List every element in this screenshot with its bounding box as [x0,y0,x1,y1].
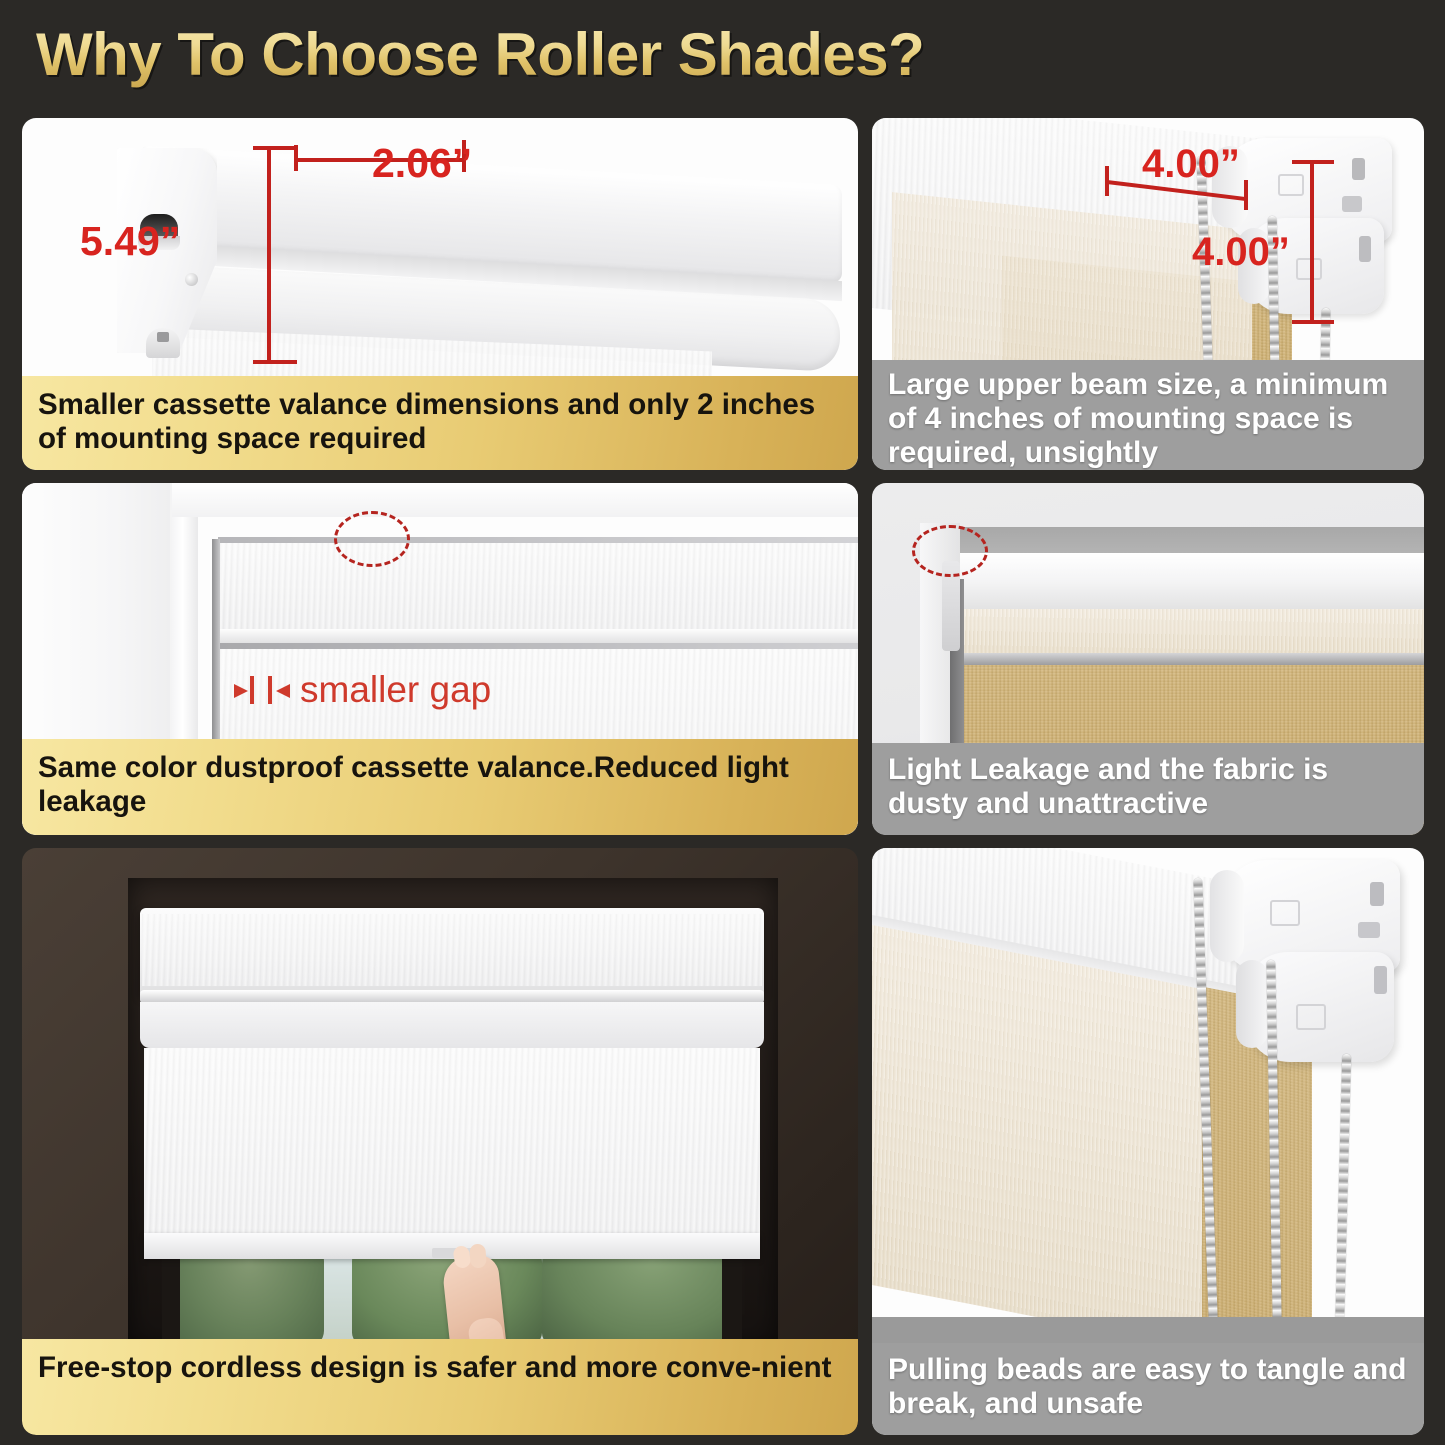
panel-2-caption: Large upper beam size, a minimum of 4 in… [872,360,1424,470]
panel-6-caption-text: Pulling beads are easy to tangle and bre… [888,1353,1408,1421]
panel-large-beam: 4.00” 4.00” Large upper beam size, a min… [872,118,1424,470]
panel2-height-line [1310,160,1314,324]
panel-light-leakage: Large gap Light Leakage and the fabric i… [872,483,1424,835]
panel-smaller-cassette: 2.06” 5.49” Smaller cassette valance dim… [22,118,858,470]
panel-pulling-beads: Pulling beads are easy to tangle and bre… [872,848,1424,1435]
panel-4-caption-text: Light Leakage and the fabric is dusty an… [888,753,1408,821]
height-dimension-label: 5.49” [80,218,180,265]
panel2-height-label: 4.00” [1192,230,1290,275]
panel-1-caption: Smaller cassette valance dimensions and … [22,376,858,470]
height-dimension-tick-bottom [253,360,297,364]
panel2-width-tick-right [1244,180,1248,210]
width-dimension-label: 2.06” [372,140,472,187]
gap-arrow-right [276,684,290,698]
panel2-height-tick-top [1292,160,1334,164]
panel-5-caption-text: Free-stop cordless design is safer and m… [38,1351,831,1385]
panel-2-caption-text: Large upper beam size, a minimum of 4 in… [888,368,1408,470]
panel-3-caption: Same color dustproof cassette valance.Re… [22,739,858,835]
height-dimension-line [267,146,271,364]
panel-dustproof-valance: smaller gap Same color dustproof cassett… [22,483,858,835]
panel-cordless-design: Free-stop cordless design is safer and m… [22,848,858,1435]
title-bar: Why To Choose Roller Shades? [0,0,1445,108]
panel-3-caption-text: Same color dustproof cassette valance.Re… [38,751,842,818]
page-title: Why To Choose Roller Shades? [36,20,924,89]
panel-1-caption-text: Smaller cassette valance dimensions and … [38,388,842,455]
panel-6-caption: Pulling beads are easy to tangle and bre… [872,1343,1424,1435]
height-dimension-tick-top [253,146,297,150]
highlight-ellipse [912,525,988,577]
panel2-width-label: 4.00” [1142,142,1240,187]
smaller-gap-label: smaller gap [300,669,491,711]
panel-5-caption: Free-stop cordless design is safer and m… [22,1339,858,1435]
comparison-grid: 2.06” 5.49” Smaller cassette valance dim… [0,108,1445,1445]
panel-4-caption: Light Leakage and the fabric is dusty an… [872,743,1424,835]
panel2-height-tick-bottom [1292,320,1334,324]
gap-arrow-left [234,684,248,698]
panel2-width-tick-left [1105,166,1109,196]
highlight-circle [334,511,410,567]
